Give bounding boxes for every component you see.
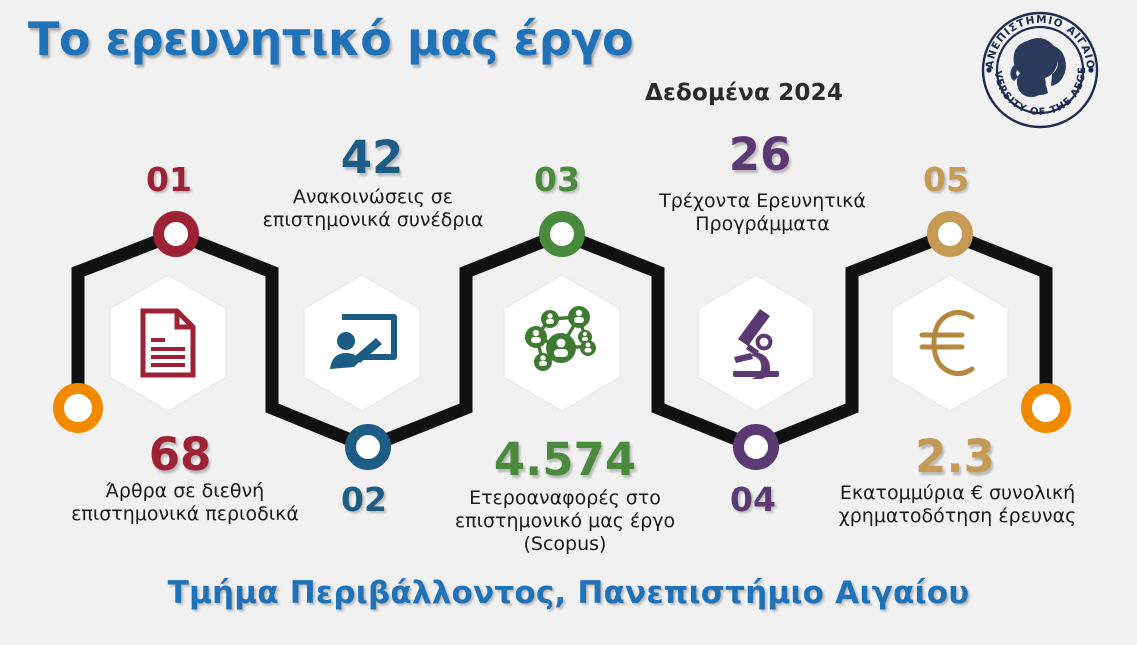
stat-value-3: 4.574 (455, 433, 675, 486)
euro-icon (888, 273, 1012, 413)
infographic-root: Το ερευνητικό μας έργο Δεδομένα 2024 ΠΑΝ… (0, 0, 1137, 645)
hex-card-1 (106, 273, 230, 413)
stat-caption-1: Άρθρα σε διεθνή επιστημονικά περιοδικά (60, 480, 310, 526)
document-icon (106, 273, 230, 413)
hex-card-4 (694, 273, 818, 413)
milestone-index-5: 05 (923, 160, 969, 199)
hex-card-3 (500, 273, 624, 413)
milestone-index-2: 02 (341, 480, 387, 519)
start-endpoint (53, 383, 103, 433)
stat-value-4: 26 (670, 128, 850, 181)
stat-caption-2: Ανακοινώσεις σε επιστημονικά συνέδρια (258, 186, 488, 232)
stat-value-1: 68 (90, 428, 270, 481)
stat-value-5: 2.3 (865, 430, 1045, 483)
milestone-node-4[interactable] (733, 424, 779, 470)
milestone-node-3[interactable] (539, 211, 585, 257)
hex-card-5 (888, 273, 1012, 413)
stat-caption-5: Εκατομμύρια € συνολική χρηματοδότηση έρε… (815, 482, 1100, 528)
milestone-index-3: 03 (534, 160, 580, 199)
milestone-node-2[interactable] (345, 424, 391, 470)
end-endpoint (1021, 383, 1071, 433)
stat-value-2: 42 (282, 131, 462, 184)
milestone-index-4: 04 (730, 480, 776, 519)
milestone-node-1[interactable] (153, 211, 199, 257)
milestone-index-1: 01 (146, 160, 192, 199)
stat-caption-4: Τρέχοντα Ερευνητικά Προγράμματα (645, 190, 880, 236)
microscope-icon (694, 273, 818, 413)
network-people-icon (500, 273, 624, 413)
milestone-node-5[interactable] (927, 211, 973, 257)
hex-card-2 (300, 273, 424, 413)
stat-caption-3: Ετεροαναφορές στο επιστημονικό μας έργο … (440, 487, 690, 555)
footer-title: Τμήμα Περιβάλλοντος, Πανεπιστήμιο Αιγαίο… (0, 575, 1137, 611)
presentation-icon (300, 273, 424, 413)
